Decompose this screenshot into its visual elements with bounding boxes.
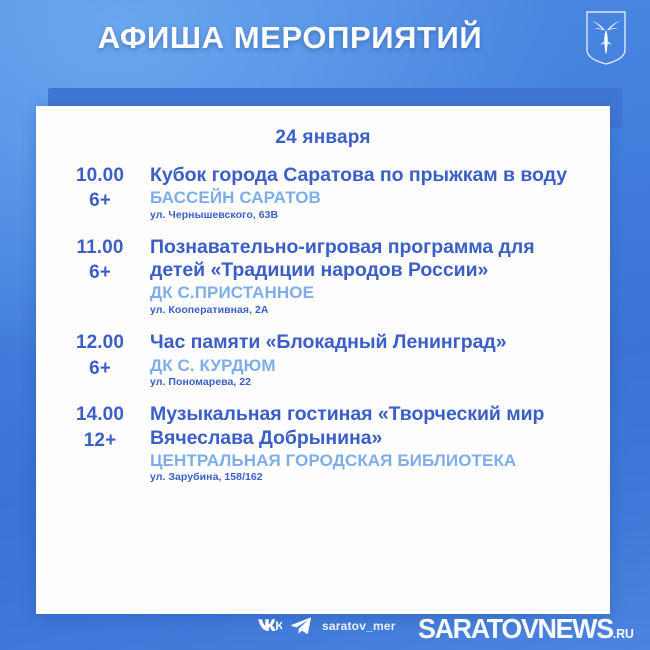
event-time: 12.00: [56, 332, 144, 354]
event-age-rating: 6+: [56, 355, 144, 383]
list-item[interactable]: 11.00 6+ Познавательно-игровая программа…: [36, 236, 610, 317]
list-item[interactable]: 12.00 6+ Час памяти «Блокадный Ленинград…: [36, 331, 610, 389]
watermark-tld: .RU: [613, 626, 634, 641]
event-title: Музыкальная гостиная «Творческий мир Вяч…: [150, 403, 594, 449]
poster-footer: K saratov_mer SARATOVNEWS.RU: [0, 615, 650, 650]
watermark: SARATOVNEWS.RU: [418, 615, 634, 643]
event-venue: ЦЕНТРАЛЬНАЯ ГОРОДСКАЯ БИБЛИОТЕКА: [150, 451, 594, 471]
event-meta: 11.00 6+: [56, 236, 144, 287]
event-age-rating: 6+: [56, 259, 144, 287]
event-list: 10.00 6+ Кубок города Саратова по прыжка…: [36, 164, 610, 499]
telegram-icon[interactable]: [291, 617, 311, 634]
watermark-brand: SARATOVNEWS: [418, 613, 613, 644]
poster-header: АФИША МЕРОПРИЯТИЙ: [0, 0, 650, 92]
event-poster: АФИША МЕРОПРИЯТИЙ 24 января 10.0: [0, 0, 650, 650]
event-title: Познавательно-игровая программа для дете…: [150, 236, 594, 282]
event-venue: ДК С.ПРИСТАННОЕ: [150, 283, 594, 303]
list-item[interactable]: 10.00 6+ Кубок города Саратова по прыжка…: [36, 164, 610, 222]
event-body: Кубок города Саратова по прыжкам в воду …: [144, 164, 594, 222]
list-item[interactable]: 14.00 12+ Музыкальная гостиная «Творческ…: [36, 403, 610, 484]
event-meta: 10.00 6+: [56, 164, 144, 215]
event-venue: ДК С. КУРДЮМ: [150, 356, 594, 376]
event-time: 10.00: [56, 165, 144, 187]
vk-icon[interactable]: K: [256, 618, 282, 634]
saratov-coat-of-arms-icon: [585, 10, 627, 66]
schedule-card: 24 января 10.00 6+ Кубок города Саратова…: [36, 106, 610, 614]
social-links: K saratov_mer: [256, 617, 396, 634]
svg-text:K: K: [275, 619, 282, 633]
event-age-rating: 12+: [56, 427, 144, 455]
event-title: Кубок города Саратова по прыжкам в воду: [150, 164, 594, 187]
event-address: ул. Чернышевского, 63В: [150, 209, 594, 222]
event-time: 14.00: [56, 404, 144, 426]
page-title: АФИША МЕРОПРИЯТИЙ: [0, 22, 580, 53]
date-heading: 24 января: [36, 127, 610, 149]
event-meta: 12.00 6+: [56, 331, 144, 382]
event-body: Музыкальная гостиная «Творческий мир Вяч…: [144, 403, 594, 484]
event-address: ул. Зарубина, 158/162: [150, 471, 594, 484]
event-age-rating: 6+: [56, 187, 144, 215]
event-meta: 14.00 12+: [56, 403, 144, 454]
social-handle: saratov_mer: [322, 619, 396, 633]
event-title: Час памяти «Блокадный Ленинград»: [150, 331, 594, 354]
event-body: Час памяти «Блокадный Ленинград» ДК С. К…: [144, 331, 594, 389]
event-venue: БАССЕЙН САРАТОВ: [150, 188, 594, 208]
event-time: 11.00: [56, 237, 144, 259]
event-address: ул. Пономарева, 22: [150, 376, 594, 389]
event-body: Познавательно-игровая программа для дете…: [144, 236, 594, 317]
event-address: ул. Кооперативная, 2А: [150, 304, 594, 317]
